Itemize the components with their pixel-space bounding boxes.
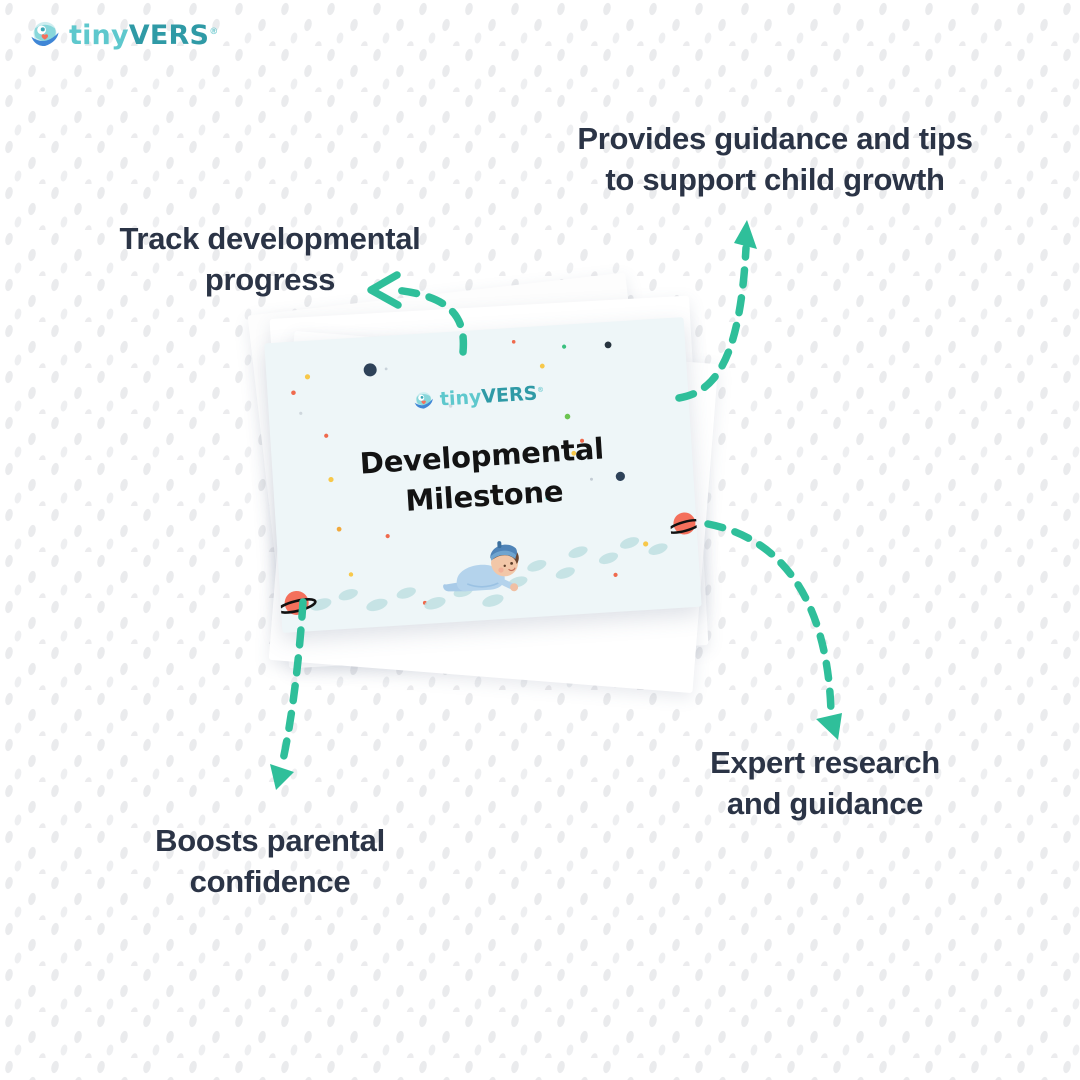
tinyvers-globe-swoosh-icon [28, 18, 62, 52]
callout-line-1: Track developmental [60, 218, 480, 259]
callout-provides-guidance: Provides guidance and tips to support ch… [540, 118, 1010, 200]
brand-word-tiny: tiny [69, 20, 129, 51]
brand-logo: tinyVERS® [28, 18, 218, 52]
card-stack[interactable]: tinyVERS® Developmental Milestone [255, 285, 725, 685]
callout-line-1: Provides guidance and tips [540, 118, 1010, 159]
front-card[interactable]: tinyVERS® Developmental Milestone [264, 317, 701, 633]
callout-track-progress: Track developmental progress [60, 218, 480, 300]
callout-boosts-confidence: Boosts parental confidence [110, 820, 430, 902]
card-brand-logo: tinyVERS® [268, 373, 689, 422]
callout-line-2: progress [60, 259, 480, 300]
callout-line-2: confidence [110, 861, 430, 902]
brand-logo-wordmark: tinyVERS® [69, 22, 218, 49]
brand-word-vers: VERS [129, 20, 209, 51]
card-registered-mark: ® [537, 386, 544, 394]
registered-mark: ® [209, 27, 218, 37]
card-logo-wordmark: tinyVERS® [439, 384, 545, 410]
callout-expert-research: Expert research and guidance [660, 742, 990, 824]
card-title: Developmental Milestone [271, 423, 695, 529]
card-brand-word-tiny: tiny [439, 386, 482, 411]
callout-line-1: Expert research [660, 742, 990, 783]
poster-canvas: tinyVERS® Provides guidance and tips to … [0, 0, 1080, 1080]
curved-dashed-arrow-down-right-icon [708, 524, 842, 740]
callout-line-2: to support child growth [540, 159, 1010, 200]
card-brand-word-vers: VERS [481, 382, 538, 407]
crawling-baby-illustration [437, 535, 533, 607]
callout-line-2: and guidance [660, 783, 990, 824]
callout-line-1: Boosts parental [110, 820, 430, 861]
tinyvers-globe-swoosh-icon [411, 389, 435, 413]
